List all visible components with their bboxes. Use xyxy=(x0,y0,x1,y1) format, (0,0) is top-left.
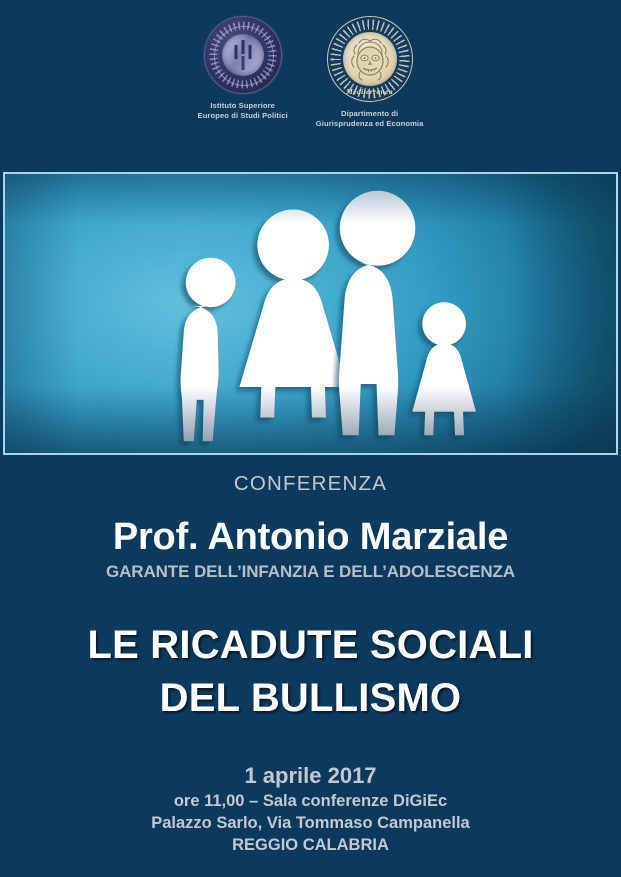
crest-emblem xyxy=(222,34,264,76)
logo-istituto-superiore: Istituto Superiore Europeo di Studi Poli… xyxy=(198,16,288,121)
logo-caption-line-2: Europeo di Studi Politici xyxy=(198,111,288,121)
universita-mediterranea-crest-icon: Mediterranea xyxy=(327,16,413,102)
family-silhouette-banner xyxy=(3,172,618,455)
poster-content: CONFERENZA Prof. Antonio Marziale GARANT… xyxy=(0,455,621,856)
logo-caption-line-2: Giurisprudenza ed Economia xyxy=(316,119,424,129)
event-date: 1 aprile 2017 xyxy=(0,763,621,790)
speaker-name: Prof. Antonio Marziale xyxy=(0,517,621,557)
banner-vignette xyxy=(5,174,616,453)
logo-caption-istituto: Istituto Superiore Europeo di Studi Poli… xyxy=(198,101,288,121)
logo-caption-universita: Dipartimento di Giurisprudenza ed Econom… xyxy=(316,109,424,129)
poster-title: LE RICADUTE SOCIALI DEL BULLISMO xyxy=(0,619,621,725)
logo-universita-mediterranea: Mediterranea Dipartimento di Giurisprude… xyxy=(316,16,424,129)
event-time-venue: ore 11,00 – Sala conferenze DiGiEc xyxy=(0,790,621,812)
event-details: 1 aprile 2017 ore 11,00 – Sala conferenz… xyxy=(0,763,621,856)
conference-poster: Istituto Superiore Europeo di Studi Poli… xyxy=(0,0,621,877)
istituto-superiore-crest-icon xyxy=(204,16,282,94)
gorgon-medallion xyxy=(343,32,397,86)
speaker-role: GARANTE DELL’INFANZIA E DELL’ADOLESCENZA xyxy=(0,563,621,582)
event-city: REGGIO CALABRIA xyxy=(0,834,621,856)
event-address: Palazzo Sarlo, Via Tommaso Campanella xyxy=(0,812,621,834)
crest-bottom-word: Mediterranea xyxy=(328,87,412,96)
poster-title-line-1: LE RICADUTE SOCIALI xyxy=(0,619,621,672)
gorgon-head-icon xyxy=(343,32,397,86)
logo-header: Istituto Superiore Europeo di Studi Poli… xyxy=(0,0,621,172)
event-type-label: CONFERENZA xyxy=(0,474,621,495)
poster-title-line-2: DEL BULLISMO xyxy=(0,672,621,725)
logo-caption-line-1: Istituto Superiore xyxy=(198,101,288,111)
logo-caption-line-1: Dipartimento di xyxy=(316,109,424,119)
